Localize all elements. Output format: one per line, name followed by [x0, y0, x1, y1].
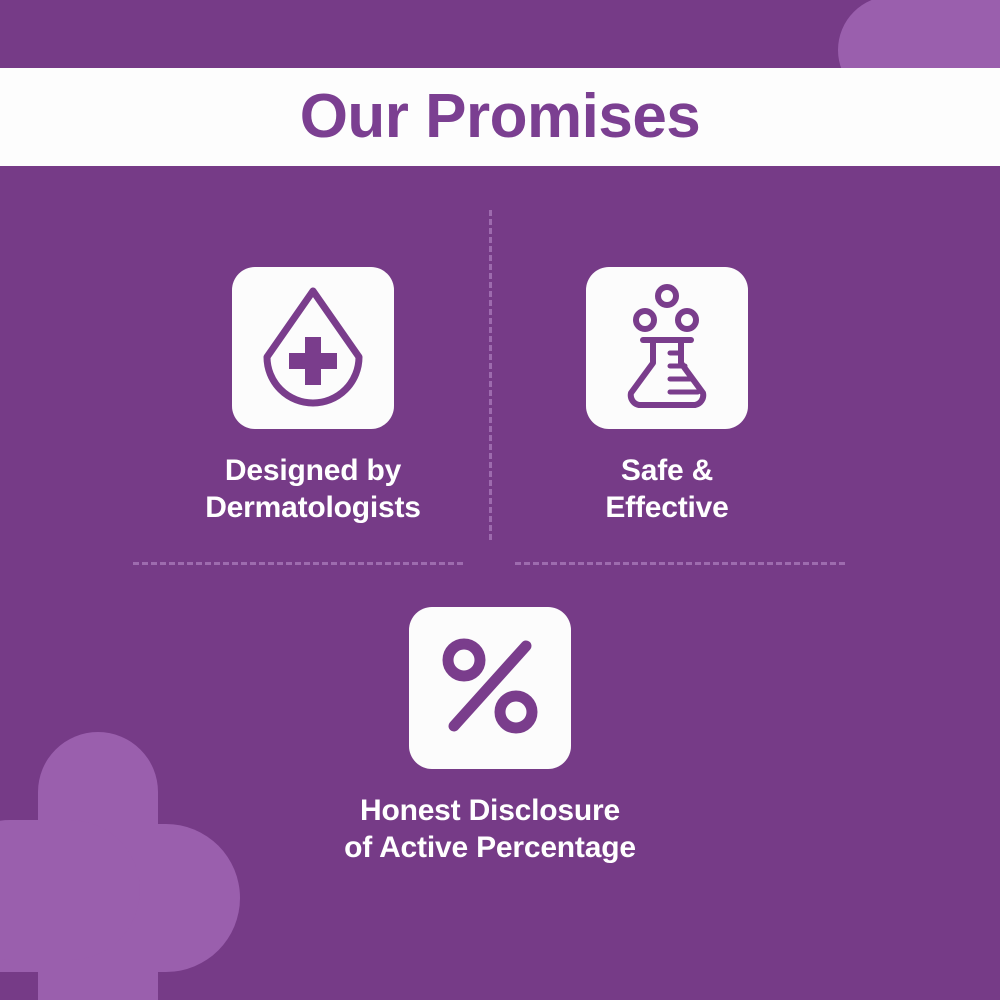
promise-item-safe-and-effective: Safe & Effective — [487, 267, 847, 526]
percent-icon — [440, 636, 540, 741]
icon-card — [409, 607, 571, 769]
header-band: Our Promises — [0, 68, 1000, 166]
promise-label: Honest Disclosure of Active Percentage — [344, 793, 636, 866]
promise-item-honest-disclosure: Honest Disclosure of Active Percentage — [290, 607, 690, 866]
lab-flask-icon — [611, 283, 723, 414]
icon-card — [232, 267, 394, 429]
promise-item-designed-by-dermatologists: Designed by Dermatologists — [113, 267, 513, 526]
promise-label: Safe & Effective — [605, 453, 728, 526]
icon-card — [586, 267, 748, 429]
promises-graphic: Our Promises Designed by Dermatologists — [0, 0, 1000, 1000]
droplet-plus-icon — [255, 285, 371, 412]
page-title: Our Promises — [300, 86, 701, 148]
promise-label: Designed by Dermatologists — [205, 453, 421, 526]
promises-list: Designed by Dermatologists — [0, 166, 1000, 1000]
